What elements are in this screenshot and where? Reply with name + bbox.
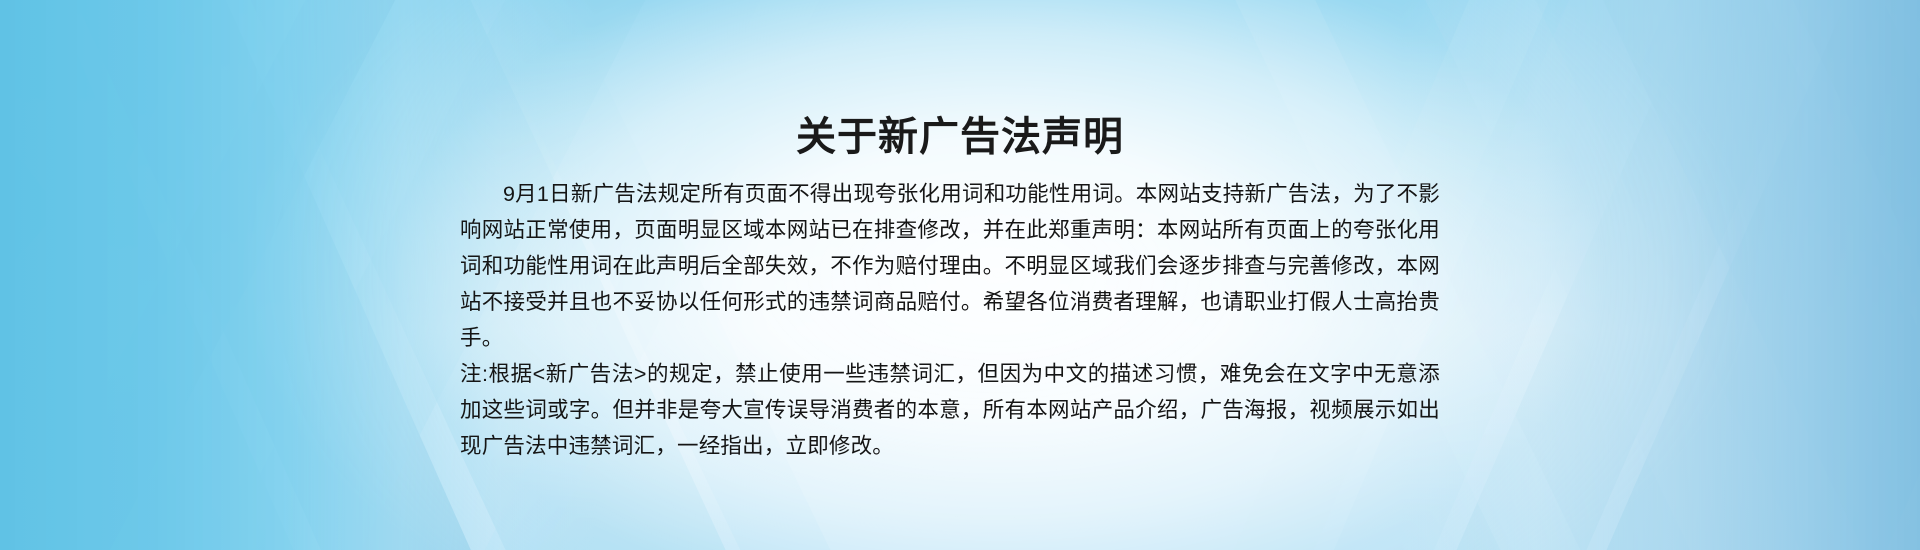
advertising-law-statement-banner: 关于新广告法声明 9月1日新广告法规定所有页面不得出现夸张化用词和功能性用词。本…	[0, 0, 1920, 550]
page-title: 关于新广告法声明	[796, 113, 1124, 161]
statement-body: 9月1日新广告法规定所有页面不得出现夸张化用词和功能性用词。本网站支持新广告法，…	[460, 176, 1440, 464]
statement-paragraph-note: 注:根据<新广告法>的规定，禁止使用一些违禁词汇，但因为中文的描述习惯，难免会在…	[460, 356, 1440, 464]
page-title-container: 关于新广告法声明	[0, 86, 1920, 188]
statement-paragraph-main: 9月1日新广告法规定所有页面不得出现夸张化用词和功能性用词。本网站支持新广告法，…	[460, 176, 1440, 356]
